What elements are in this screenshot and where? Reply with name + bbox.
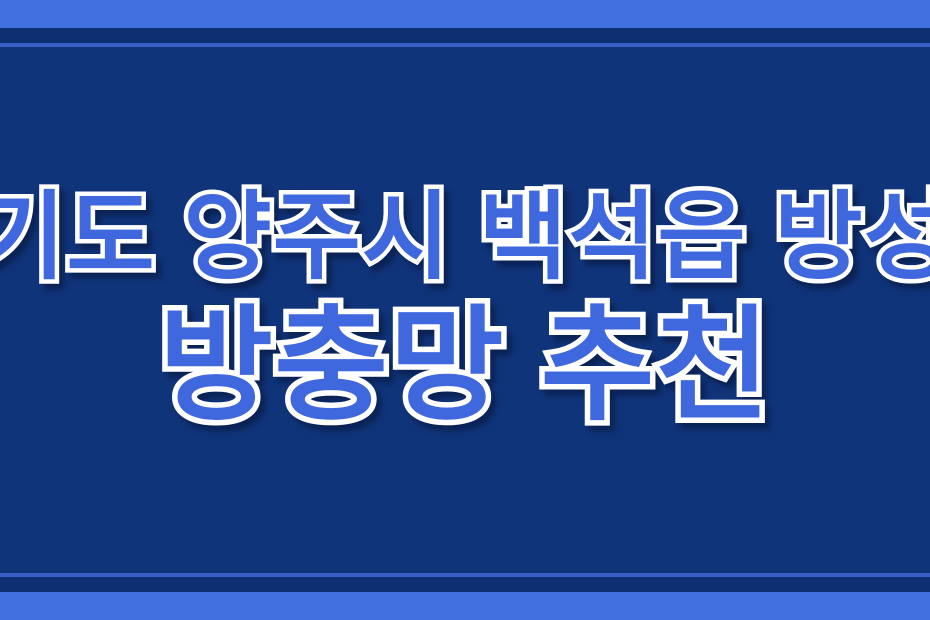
bottom-accent-band bbox=[0, 592, 930, 620]
top-navy-band bbox=[0, 28, 930, 43]
top-accent-band bbox=[0, 0, 930, 28]
bottom-divider-rule bbox=[0, 573, 930, 577]
headline-stack: 경기도 양주시 백석읍 방성리 방충망 추천 bbox=[0, 47, 930, 573]
promotional-banner: 경기도 양주시 백석읍 방성리 방충망 추천 bbox=[0, 0, 930, 620]
headline-line-1: 경기도 양주시 백석읍 방성리 bbox=[0, 186, 930, 290]
headline-line-2: 방충망 추천 bbox=[159, 300, 771, 434]
bottom-navy-band bbox=[0, 577, 930, 592]
